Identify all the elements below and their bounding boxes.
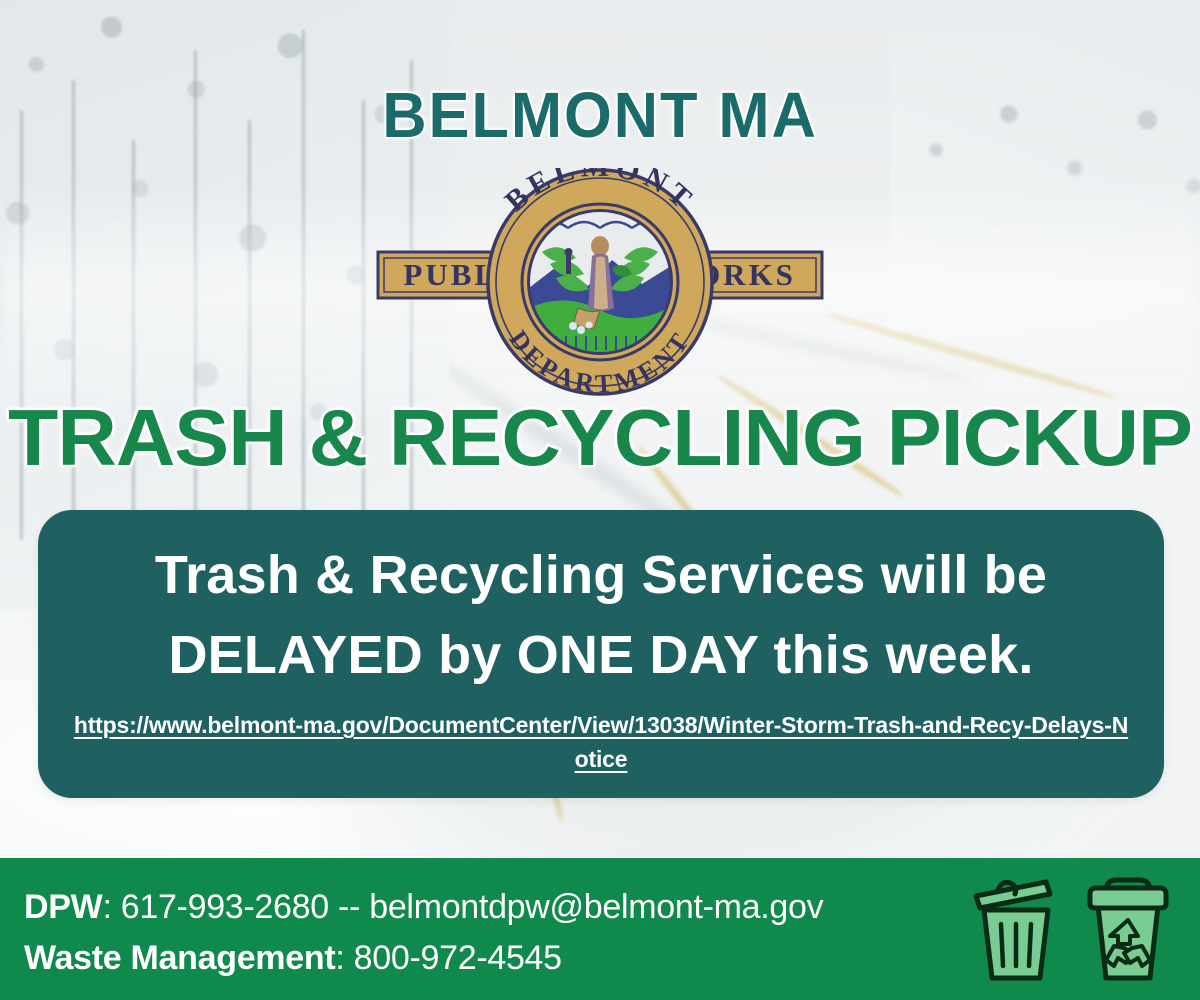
contact-label: Waste Management — [24, 939, 335, 977]
notice-line-2: DELAYED by ONE DAY this week. — [38, 624, 1164, 686]
dpw-seal-logo: PUBLIC WORKS BELMONT DEPARTMENT — [360, 168, 840, 396]
footer-icon-group — [968, 874, 1176, 989]
contact-separator: : — [335, 939, 353, 977]
contact-label: DPW — [24, 888, 102, 926]
contact-value: 800-972-4545 — [354, 939, 562, 977]
main-heading: TRASH & RECYCLING PICKUP — [0, 392, 1200, 484]
page-title: BELMONT MA — [24, 78, 1176, 152]
notice-panel: Trash & Recycling Services will be DELAY… — [38, 510, 1164, 798]
contact-row-dpw: DPW: 617-993-2680 -- belmontdpw@belmont-… — [24, 882, 823, 933]
contact-list: DPW: 617-993-2680 -- belmontdpw@belmont-… — [24, 882, 823, 984]
notice-url-link[interactable]: https://www.belmont-ma.gov/DocumentCente… — [72, 708, 1130, 776]
recycle-bin-icon — [1080, 874, 1176, 989]
notice-line-1: Trash & Recycling Services will be — [38, 544, 1164, 606]
contact-footer: DPW: 617-993-2680 -- belmontdpw@belmont-… — [0, 858, 1200, 1000]
poster-root: BELMONT MA PUBLIC WORKS — [0, 0, 1200, 1000]
contact-value: 617-993-2680 -- belmontdpw@belmont-ma.go… — [121, 888, 824, 926]
contact-row-waste-management: Waste Management: 800-972-4545 — [24, 933, 823, 984]
contact-separator: : — [102, 888, 120, 926]
trash-can-icon — [968, 874, 1064, 989]
